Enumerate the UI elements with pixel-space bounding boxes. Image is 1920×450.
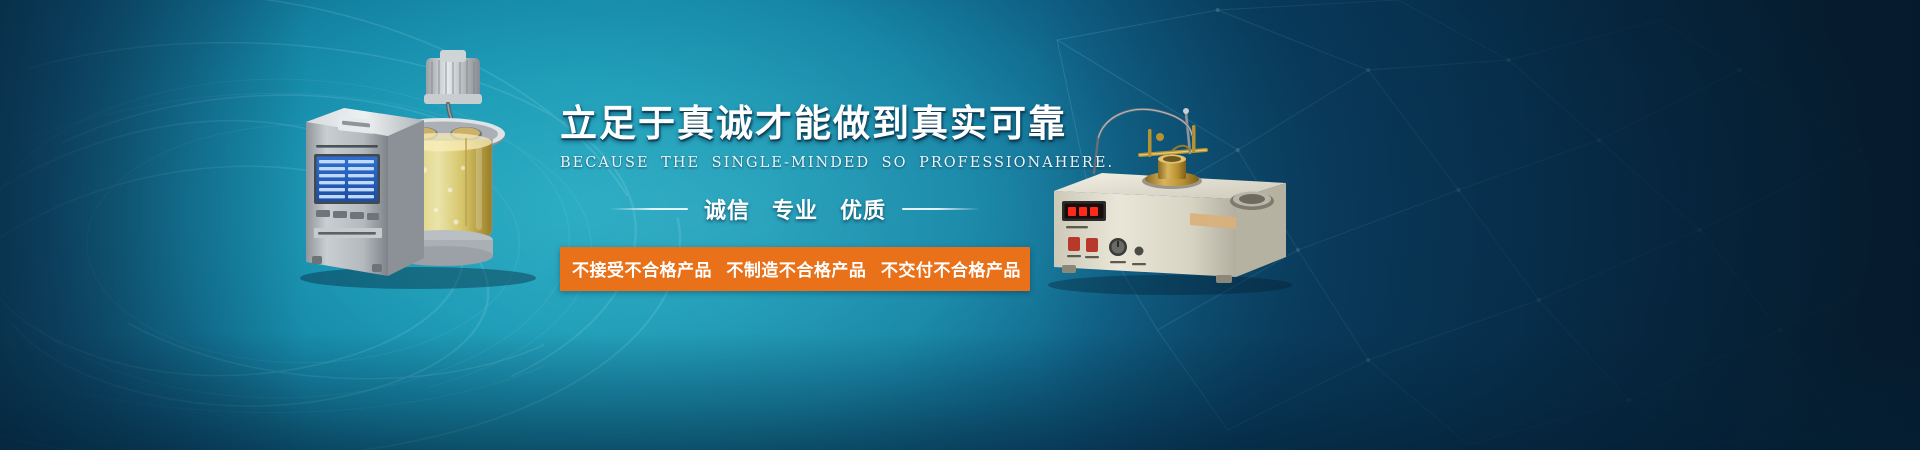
quality-slogan-bar: 不接受不合格产品 不制造不合格产品 不交付不合格产品 — [560, 247, 1030, 291]
keywords-row: 诚信 专业 优质 — [560, 193, 1030, 225]
subheadline-text: BECAUSE THE SINGLE-MINDED SO PROFESSIONA… — [560, 155, 1030, 171]
keyword-professional: 专业 — [772, 193, 818, 225]
background-bottom-fade — [0, 333, 1920, 450]
quality-slogan-text: 不接受不合格产品 不制造不合格产品 不交付不合格产品 — [572, 256, 1018, 281]
flash-point-tester-image — [1040, 95, 1300, 295]
decorative-rule-left — [610, 208, 688, 210]
viscosity-tester-image — [298, 50, 548, 290]
keyword-quality: 优质 — [840, 193, 886, 225]
decorative-rule-right — [902, 208, 980, 210]
keyword-integrity: 诚信 — [704, 193, 750, 225]
banner-copy-block: 立足于真诚才能做到真实可靠 BECAUSE THE SINGLE-MINDED … — [560, 104, 1030, 291]
keywords-list: 诚信 专业 优质 — [704, 193, 886, 225]
promo-banner: 立足于真诚才能做到真实可靠 BECAUSE THE SINGLE-MINDED … — [0, 0, 1920, 450]
headline-text: 立足于真诚才能做到真实可靠 — [560, 104, 1030, 143]
